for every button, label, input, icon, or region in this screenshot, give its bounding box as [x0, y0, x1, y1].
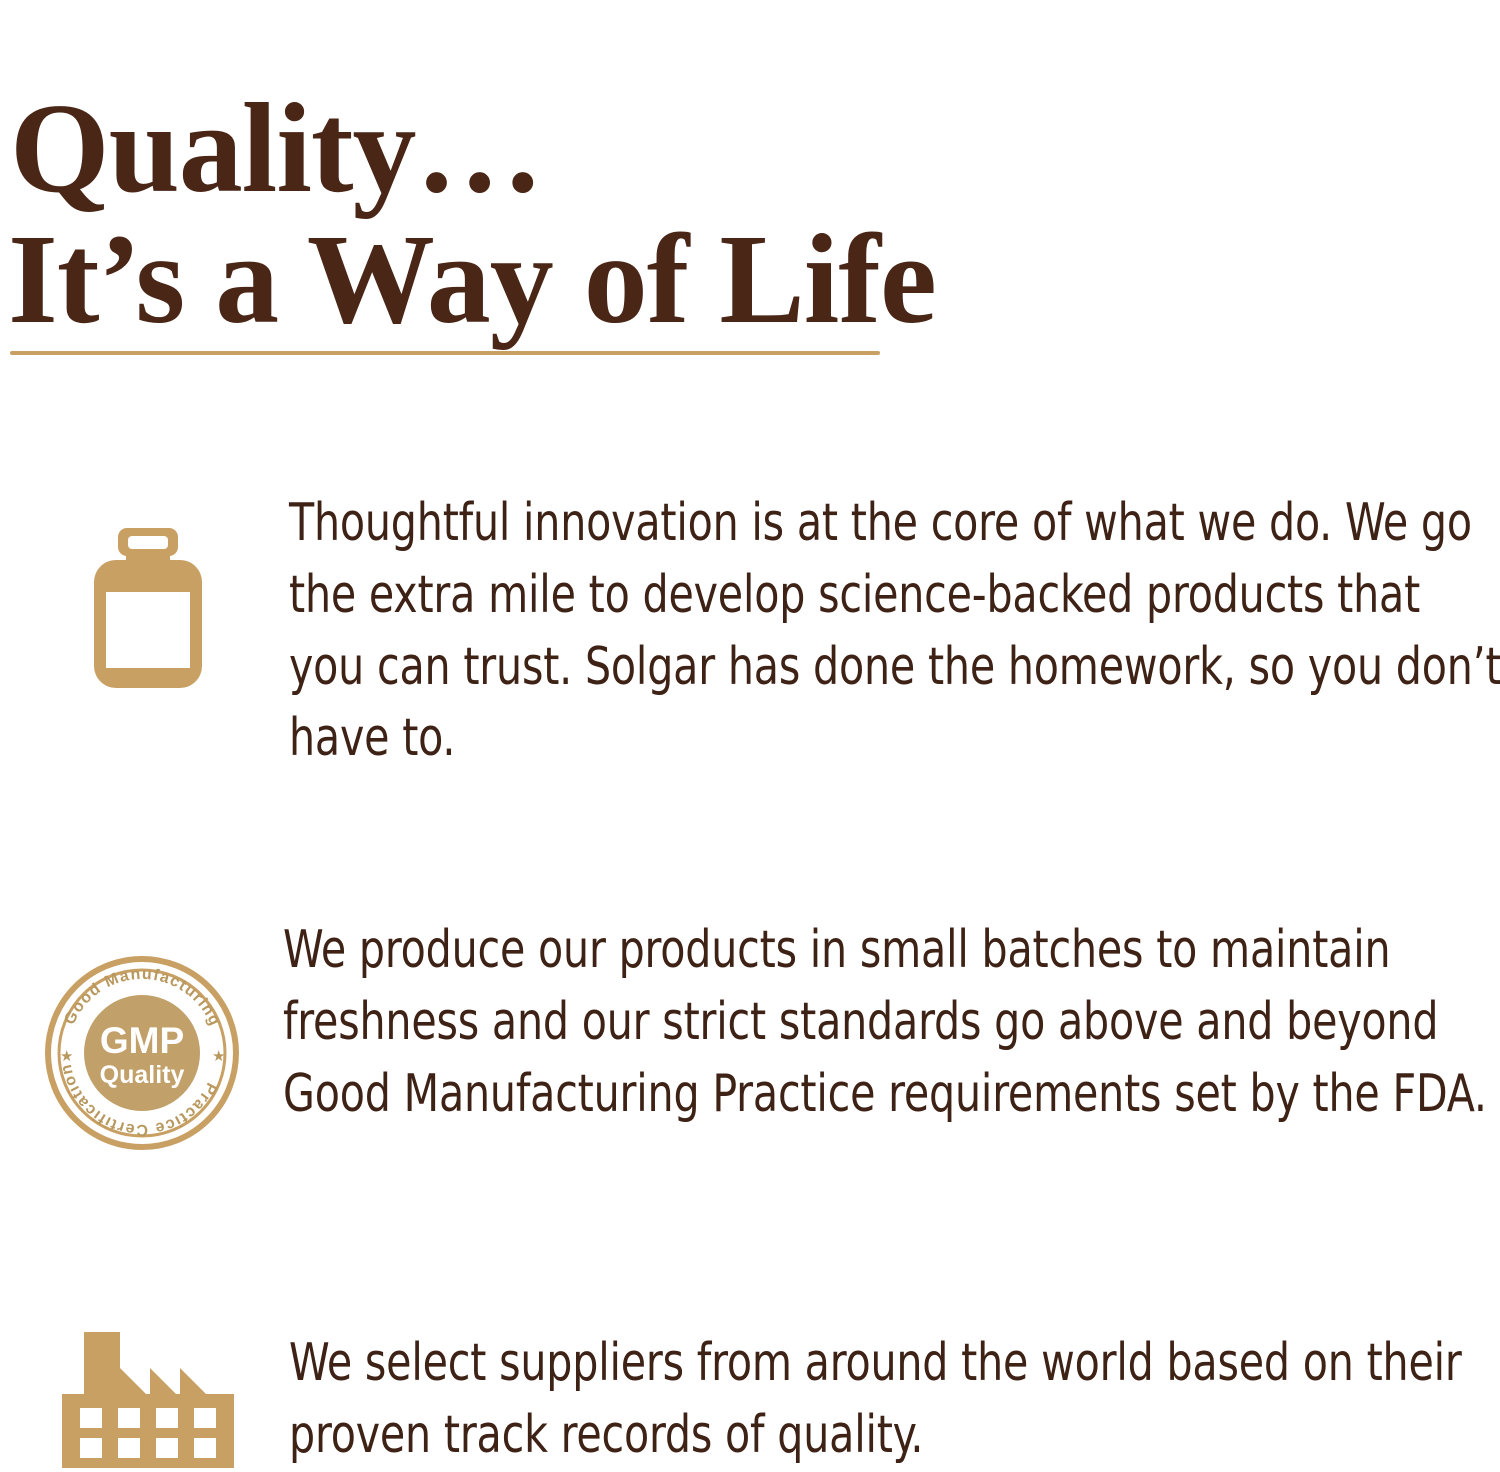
feature-text-cell: We produce our products in small batches…: [283, 915, 1500, 1130]
svg-text:GMP: GMP: [99, 1020, 183, 1061]
feature-description: We produce our products in small batches…: [283, 915, 1497, 1130]
page-title: Quality… It’s a Way of Life: [8, 88, 1208, 341]
page-title-line-1: Quality…: [10, 88, 1208, 210]
feature-description: Thoughtful innovation is at the core of …: [289, 488, 1500, 775]
feature-description: We select suppliers from around the worl…: [289, 1328, 1500, 1472]
gmp-quality-seal-icon: Good Manufacturing Practice Certificatio…: [42, 953, 242, 1153]
gold-divider-rule: [10, 351, 880, 355]
supplement-bottle-icon: [92, 528, 204, 688]
factory-icon: [62, 1332, 234, 1468]
feature-row-gmp: Good Manufacturing Practice Certificatio…: [0, 915, 1500, 1153]
svg-text:★: ★: [212, 1048, 225, 1065]
quality-promo-page: Quality… It’s a Way of Life Thoughtful i…: [0, 0, 1500, 1465]
feature-text-cell: We select suppliers from around the worl…: [289, 1328, 1500, 1472]
feature-text-cell: Thoughtful innovation is at the core of …: [289, 488, 1500, 775]
feature-icon-cell: [0, 488, 289, 688]
svg-text:Quality: Quality: [99, 1061, 184, 1089]
feature-row-suppliers: We select suppliers from around the worl…: [0, 1328, 1500, 1472]
feature-icon-cell: [0, 1328, 289, 1468]
feature-icon-cell: Good Manufacturing Practice Certificatio…: [0, 915, 283, 1153]
page-title-line-2: It’s a Way of Life: [8, 219, 1208, 341]
feature-row-innovation: Thoughtful innovation is at the core of …: [0, 488, 1500, 775]
svg-text:★: ★: [60, 1048, 73, 1065]
